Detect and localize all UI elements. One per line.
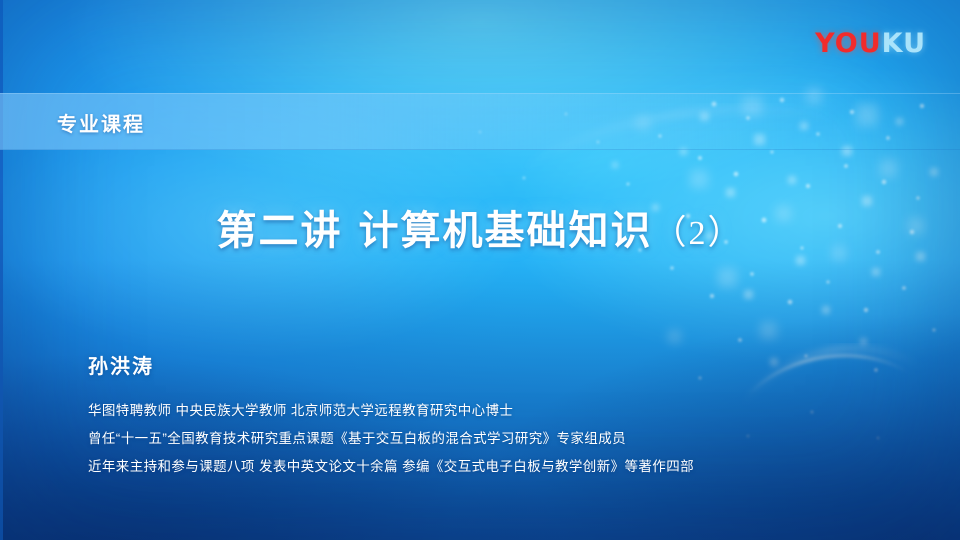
credential-line: 华图特聘教师 中央民族大学教师 北京师范大学远程教育研究中心博士: [88, 397, 888, 425]
credential-line: 近年来主持和参与课题八项 发表中英文论文十余篇 参编《交互式电子白板与教学创新》…: [88, 453, 888, 481]
video-player-frame: 专业课程 第二讲 计算机基础知识（2） 孙洪涛 华图特聘教师 中央民族大学教师 …: [0, 0, 960, 540]
category-label: 专业课程: [57, 108, 145, 137]
youku-logo-ku: KU: [882, 28, 926, 59]
page-title-part-number: （2）: [652, 215, 743, 252]
left-edge-strip: [0, 0, 3, 540]
presenter-name: 孙洪涛: [88, 350, 154, 379]
presenter-credentials: 华图特聘教师 中央民族大学教师 北京师范大学远程教育研究中心博士 曾任“十一五”…: [88, 397, 888, 481]
credential-line: 曾任“十一五”全国教育技术研究重点课题《基于交互白板的混合式学习研究》专家组成员: [88, 425, 888, 453]
page-title-main: 第二讲 计算机基础知识: [217, 207, 653, 254]
youku-logo-you: YOU: [815, 28, 881, 59]
page-title: 第二讲 计算机基础知识（2）: [0, 198, 960, 256]
youku-logo-watermark: YOUKU: [815, 30, 926, 57]
